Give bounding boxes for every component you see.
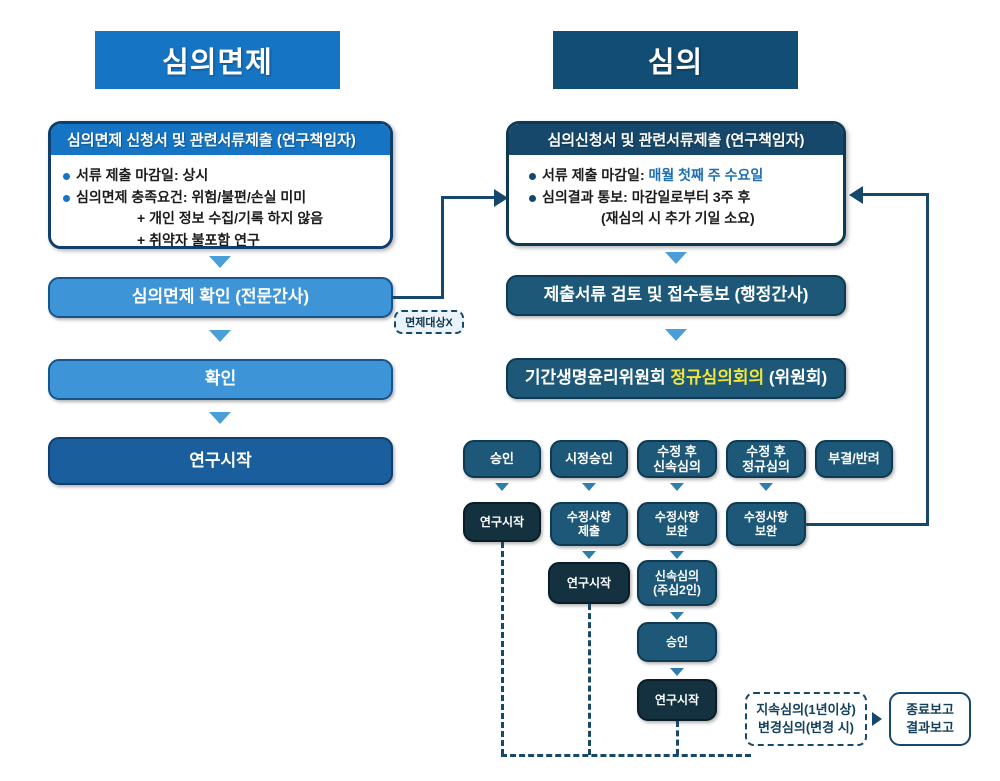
bullet-text: 서류 제출 마감일: 매월 첫째 주 수요일: [542, 165, 763, 187]
flowchart-canvas: 심의면제 심의면제 신청서 및 관련서류제출 (연구책임자) 서류 제출 마감일…: [0, 0, 1000, 781]
arrow-down-icon: [209, 330, 231, 342]
node-label: 제출서류 검토 및 접수통보 (행정간사): [544, 285, 809, 305]
committee-prefix: 기간생명윤리위원회: [525, 368, 670, 387]
node-supplement-revisions-regular[interactable]: 수정사항 보완: [726, 502, 806, 546]
committee-suffix: (위원회): [764, 368, 827, 387]
node-label: 부결/반려: [828, 451, 879, 466]
node-label: 연구시작: [655, 693, 699, 707]
card-review-application: 심의신청서 및 관련서류제출 (연구책임자) 서류 제출 마감일: 매월 첫째 …: [506, 121, 846, 246]
banner-left: 심의면제: [95, 31, 340, 89]
bullet-item: 서류 제출 마감일: 상시: [63, 165, 378, 187]
node-label: 승인: [490, 451, 514, 466]
node-label-line1: 수정사항: [655, 510, 699, 524]
bullet-dot-icon: [529, 173, 536, 180]
node-label: 시정승인: [565, 451, 613, 466]
connector-segment: [926, 193, 929, 525]
banner-right-label-wrap: 심의: [553, 31, 798, 89]
node-label-line1: 수정사항: [744, 510, 788, 524]
node-label-line2: 보완: [755, 524, 777, 538]
arrow-down-icon: [759, 483, 773, 491]
card-exemption-body: 서류 제출 마감일: 상시 심의면제 충족요건: 위험/불편/손실 미미 + 개…: [51, 155, 390, 249]
arrow-down-icon: [582, 483, 596, 491]
bullet-prefix: 서류 제출 마감일:: [542, 167, 649, 183]
box-continuing-review[interactable]: 지속심의(1년이상) 변경심의(변경 시): [745, 692, 867, 746]
node-start-research-left[interactable]: 연구시작: [48, 437, 393, 485]
connector-segment: [441, 196, 444, 299]
dashed-connector: [501, 754, 751, 757]
node-decision-revise-expedited[interactable]: 수정 후 신속심의: [637, 440, 717, 478]
bullet-text: 심의결과 통보: 마감일로부터 3주 후: [542, 187, 750, 209]
node-decision-conditional-approve[interactable]: 시정승인: [550, 440, 628, 478]
node-label-line2: 정규심의: [742, 459, 790, 474]
bullet-item: 서류 제출 마감일: 매월 첫째 주 수요일: [529, 165, 831, 187]
arrow-down-icon: [670, 668, 684, 676]
box-label-line2: 변경심의(변경 시): [758, 719, 854, 737]
connector-segment: [392, 296, 444, 299]
arrow-down-icon: [582, 551, 596, 559]
bullet-dot-icon: [529, 195, 536, 202]
node-label: 연구시작: [189, 451, 252, 471]
node-start-research-revised[interactable]: 연구시작: [548, 562, 630, 604]
node-label: 심의면제 확인 (전문간사): [132, 287, 309, 307]
bullet-subline: (재심의 시 추가 기일 소요): [529, 208, 831, 230]
dashed-connector: [501, 542, 504, 755]
node-label-line2: 제출: [578, 524, 600, 538]
arrow-right-icon: [872, 712, 882, 726]
arrow-down-icon: [665, 329, 687, 341]
node-label: 확인: [205, 369, 236, 389]
dashed-connector: [588, 604, 591, 755]
node-decision-approve[interactable]: 승인: [463, 440, 541, 478]
box-final-report[interactable]: 종료보고 결과보고: [889, 692, 971, 746]
label-text: 면제대상X: [405, 314, 453, 330]
node-submit-revisions[interactable]: 수정사항 제출: [550, 502, 628, 546]
node-expedited-approval[interactable]: 승인: [637, 622, 717, 662]
node-decision-revise-regular[interactable]: 수정 후 정규심의: [726, 440, 806, 478]
node-label-line1: 신속심의: [655, 569, 699, 583]
arrow-down-icon: [670, 483, 684, 491]
arrow-down-icon: [670, 551, 684, 559]
dashed-connector: [676, 721, 679, 755]
bullet-dot-icon: [63, 173, 70, 180]
card-exemption-application: 심의면제 신청서 및 관련서류제출 (연구책임자) 서류 제출 마감일: 상시 …: [48, 121, 393, 249]
bullet-item: 심의결과 통보: 마감일로부터 3주 후: [529, 187, 831, 209]
bullet-dot-icon: [63, 195, 70, 202]
box-label-line2: 결과보고: [906, 719, 954, 737]
bullet-text: 서류 제출 마감일: 상시: [76, 165, 208, 187]
connector-segment: [862, 193, 929, 196]
card-review-header: 심의신청서 및 관련서류제출 (연구책임자): [509, 124, 843, 155]
card-review-body: 서류 제출 마감일: 매월 첫째 주 수요일 심의결과 통보: 마감일로부터 3…: [509, 155, 843, 240]
connector-segment: [805, 523, 929, 526]
node-expedited-review[interactable]: 신속심의 (주심2인): [637, 560, 717, 606]
box-label-line1: 지속심의(1년이상): [756, 701, 856, 719]
connector-segment: [441, 196, 496, 199]
node-label-line1: 수정 후: [746, 444, 786, 459]
label-not-exempt: 면제대상X: [394, 310, 464, 334]
bullet-item: 심의면제 충족요건: 위험/불편/손실 미미: [63, 187, 378, 209]
node-regular-review-meeting[interactable]: 기간생명윤리위원회 정규심의회의 (위원회): [506, 358, 846, 399]
node-label: 연구시작: [480, 515, 524, 529]
arrow-down-icon: [670, 612, 684, 620]
bullet-highlight: 매월 첫째 주 수요일: [649, 167, 764, 183]
node-confirm[interactable]: 확인: [48, 359, 393, 400]
bullet-subline: + 취약자 불포함 연구: [63, 230, 378, 249]
node-label: 연구시작: [567, 576, 611, 590]
node-document-review[interactable]: 제출서류 검토 및 접수통보 (행정간사): [506, 275, 846, 316]
card-exemption-header: 심의면제 신청서 및 관련서류제출 (연구책임자): [51, 124, 390, 155]
node-label-line2: 보완: [666, 524, 688, 538]
node-label-line2: 신속심의: [653, 459, 701, 474]
node-label: 기간생명윤리위원회 정규심의회의 (위원회): [525, 368, 827, 388]
node-start-research-expedited[interactable]: 연구시작: [637, 679, 717, 721]
node-supplement-revisions-expedited[interactable]: 수정사항 보완: [637, 502, 717, 546]
node-label-line1: 수정 후: [657, 444, 697, 459]
connector-arrow-icon: [849, 186, 863, 204]
bullet-subline: + 개인 정보 수집/기록 하지 않음: [63, 208, 378, 230]
banner-left-label: 심의면제: [162, 39, 273, 81]
node-label-line2: (주심2인): [653, 583, 701, 597]
arrow-down-icon: [495, 483, 509, 491]
box-label-line1: 종료보고: [906, 701, 954, 719]
committee-highlight: 정규심의회의: [670, 368, 764, 387]
node-exemption-check[interactable]: 심의면제 확인 (전문간사): [48, 277, 393, 318]
node-decision-rejected[interactable]: 부결/반려: [815, 440, 893, 478]
arrow-down-icon: [209, 412, 231, 424]
arrow-down-icon: [209, 256, 231, 268]
bullet-text: 심의면제 충족요건: 위험/불편/손실 미미: [76, 187, 306, 209]
node-label: 승인: [666, 635, 688, 649]
node-label-line1: 수정사항: [567, 510, 611, 524]
arrow-down-icon: [665, 252, 687, 264]
banner-right-label: 심의: [648, 39, 703, 81]
node-start-research-approve[interactable]: 연구시작: [463, 502, 541, 542]
